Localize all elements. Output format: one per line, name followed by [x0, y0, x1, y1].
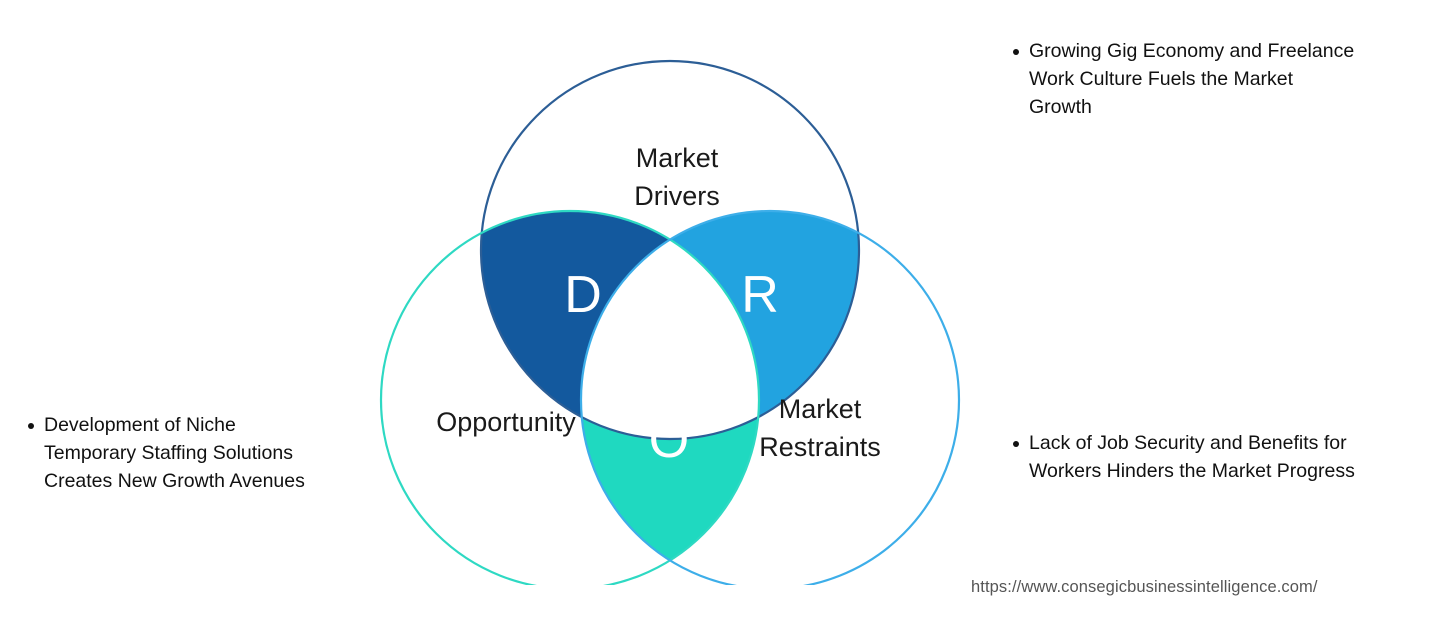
opportunity-label-line1: Opportunity — [436, 407, 576, 437]
venn-diagram: D R O Market Drivers Opportunity Market … — [370, 40, 980, 585]
callout-opportunity-text: Development of Niche Temporary Staffing … — [44, 412, 305, 496]
lens-letter-r: R — [741, 266, 779, 324]
venn-svg: D R O Market Drivers Opportunity Market … — [370, 40, 980, 585]
callout-restraint-line-1: Lack of Job Security and Benefits for — [1029, 430, 1355, 458]
bullet-point-icon — [1013, 49, 1019, 55]
callout-restraint-line-2: Workers Hinders the Market Progress — [1029, 458, 1355, 486]
region-label-market-drivers: Market Drivers — [634, 143, 720, 211]
callout-market-restraints-text: Lack of Job Security and Benefits for Wo… — [1029, 430, 1355, 486]
lens-letter-d: D — [564, 266, 602, 324]
callout-market-drivers-text: Growing Gig Economy and Freelance Work C… — [1029, 38, 1354, 122]
callout-driver-line-1: Growing Gig Economy and Freelance — [1029, 38, 1354, 66]
callout-opportunity-line-3: Creates New Growth Avenues — [44, 468, 305, 496]
bullet-point-icon — [28, 423, 34, 429]
market-restraints-label-line1: Market — [779, 394, 862, 424]
callout-opportunity-line-1: Development of Niche — [44, 412, 305, 440]
market-drivers-label-line1: Market — [636, 143, 719, 173]
callout-driver-line-3: Growth — [1029, 94, 1354, 122]
callout-market-restraints: Lack of Job Security and Benefits for Wo… — [1013, 430, 1453, 486]
callout-opportunity: Development of Niche Temporary Staffing … — [28, 412, 378, 496]
callout-opportunity-line-2: Temporary Staffing Solutions — [44, 440, 305, 468]
callout-driver-line-2: Work Culture Fuels the Market — [1029, 66, 1354, 94]
callout-market-drivers: Growing Gig Economy and Freelance Work C… — [1013, 38, 1453, 122]
bullet-point-icon — [1013, 441, 1019, 447]
source-url[interactable]: https://www.consegicbusinessintelligence… — [971, 578, 1318, 597]
region-label-opportunity: Opportunity — [436, 407, 576, 437]
market-restraints-label-line2: Restraints — [759, 432, 881, 462]
market-drivers-label-line2: Drivers — [634, 181, 720, 211]
lens-letter-o: O — [649, 411, 689, 469]
